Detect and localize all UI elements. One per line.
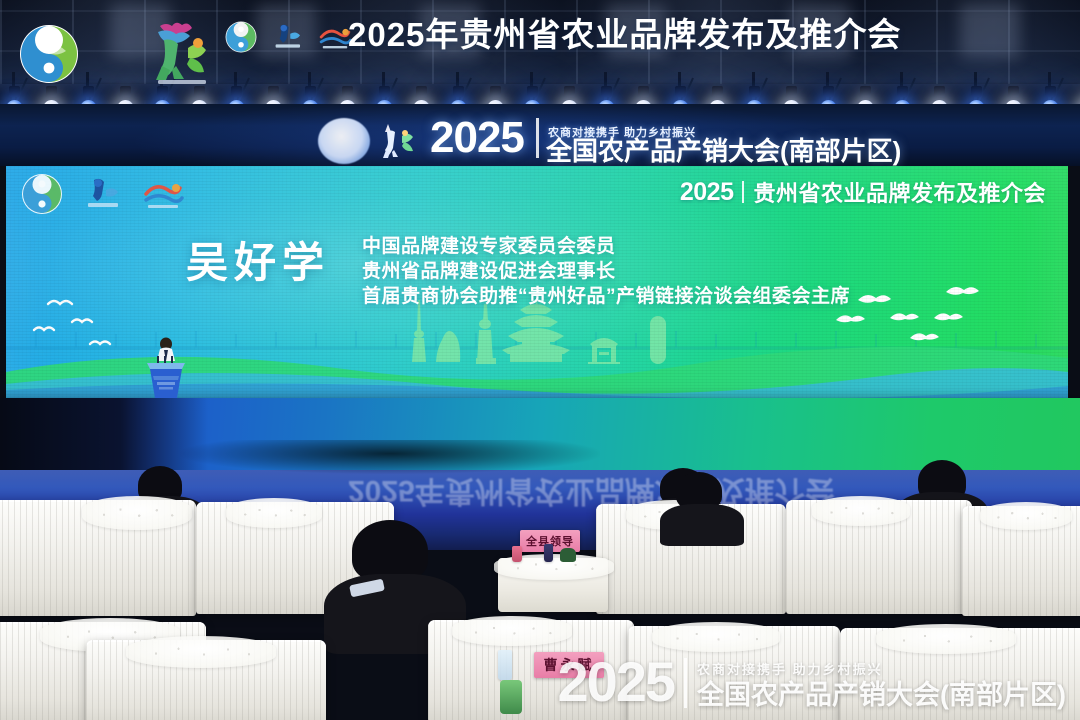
speaker-credential-line: 中国品牌建设专家委员会委员 (362, 234, 850, 259)
seat-doily (980, 502, 1072, 530)
sphere-logo-icon (318, 118, 370, 164)
seat-doily (226, 498, 322, 528)
screen-event-title-block: 2025 贵州省农业品牌发布及推介会 (680, 176, 1046, 208)
stage-light-housing (342, 86, 353, 97)
stage-left-shadow (0, 398, 208, 470)
table-object (544, 544, 553, 562)
table-plant (500, 680, 522, 714)
stage-light-housing (194, 86, 205, 97)
seat-doily (82, 496, 192, 530)
banner-title: 全国农产品产销大会(南部片区) (546, 138, 901, 164)
stage-light-housing (1045, 86, 1056, 97)
stage-light-housing (527, 86, 538, 97)
stage-light-housing (638, 86, 649, 97)
stage-light-housing (416, 86, 427, 97)
stage-light-housing (453, 86, 464, 97)
stage-light-housing (9, 86, 20, 97)
stage-light-housing (268, 86, 279, 97)
stage-light-housing (564, 86, 575, 97)
stage-light-housing (675, 86, 686, 97)
stage-light-housing (897, 86, 908, 97)
stage-light-housing (83, 86, 94, 97)
table-water-bottle (498, 650, 512, 680)
seat-doily (652, 622, 780, 652)
watermark-title: 全国农产品产销大会(南部片区) (697, 681, 1066, 709)
seat-doily (876, 624, 1016, 654)
banner-divider (536, 118, 539, 158)
stage-light-housing (157, 86, 168, 97)
stage-light-housing (860, 86, 871, 97)
speaker-name: 吴好学 (186, 240, 330, 286)
seat-doily (452, 616, 572, 646)
sphere-green-blue-logo-icon (18, 23, 80, 85)
banner-glow (0, 104, 1080, 166)
stage-light-housing (749, 86, 760, 97)
hall-corner-logos (18, 22, 220, 86)
stage-light-housing (379, 86, 390, 97)
colorful-mascot-logo-icon (136, 22, 220, 86)
stage-light-housing (46, 86, 57, 97)
seat-doily (812, 496, 910, 526)
speaker-credential-line: 首届贵商协会助推“贵州好品”产销链接洽谈会组委会主席 (362, 284, 850, 309)
screen-logo-group (20, 172, 186, 216)
stage-light-housing (305, 86, 316, 97)
stage-light-housing (1008, 86, 1019, 97)
stage-banner-logo-group (224, 20, 354, 54)
wave-red-blue-logo-icon (140, 178, 186, 210)
screen-event-title: 贵州省农业品牌发布及推介会 (753, 176, 1046, 208)
mascot-blue-logo-icon (269, 24, 305, 50)
stage-light-housing (786, 86, 797, 97)
screen-year: 2025 (680, 178, 734, 207)
seat-doily (126, 636, 276, 668)
circle-green-blue-logo-icon (20, 172, 64, 216)
mascot-logo-icon (374, 120, 426, 162)
stage-light-housing (120, 86, 131, 97)
stage-light-housing (823, 86, 834, 97)
table-plant (560, 548, 576, 562)
corner-watermark: 2025 农商对接携手 助力乡村振兴 全国农产品产销大会(南部片区) (557, 654, 1066, 710)
stage-light-housing (231, 86, 242, 97)
ceiling-panel-glow (960, 4, 1020, 58)
banner-year: 2025 (430, 112, 524, 164)
screen-title-divider (742, 181, 744, 203)
circle-green-blue-logo-icon (224, 20, 258, 54)
stage-light-housing (601, 86, 612, 97)
mascot-blue-logo-icon (80, 178, 124, 210)
speaker-podium (133, 330, 199, 400)
watermark-divider (684, 658, 687, 708)
overhead-event-banner (0, 104, 1080, 166)
table-object (512, 546, 522, 562)
stage-banner-title: 2025年贵州省农业品牌发布及推介会 (348, 15, 901, 55)
stage-light-housing (712, 86, 723, 97)
speaker-credentials: 中国品牌建设专家委员会委员 贵州省品牌建设促进会理事长 首届贵商协会助推“贵州好… (362, 234, 850, 309)
watermark-text-block: 农商对接携手 助力乡村振兴 全国农产品产销大会(南部片区) (697, 659, 1066, 710)
watermark-year: 2025 (557, 654, 674, 710)
stage-light-housing (490, 86, 501, 97)
stage-light-housing (971, 86, 982, 97)
stage-light-housing (934, 86, 945, 97)
conference-photo-scene: 2025 农商对接携手 助力乡村振兴 全国农产品产销大会(南部片区) (0, 0, 1080, 720)
watermark-subtitle: 农商对接携手 助力乡村振兴 (697, 659, 1066, 678)
speaker-credential-line: 贵州省品牌建设促进会理事长 (362, 259, 850, 284)
